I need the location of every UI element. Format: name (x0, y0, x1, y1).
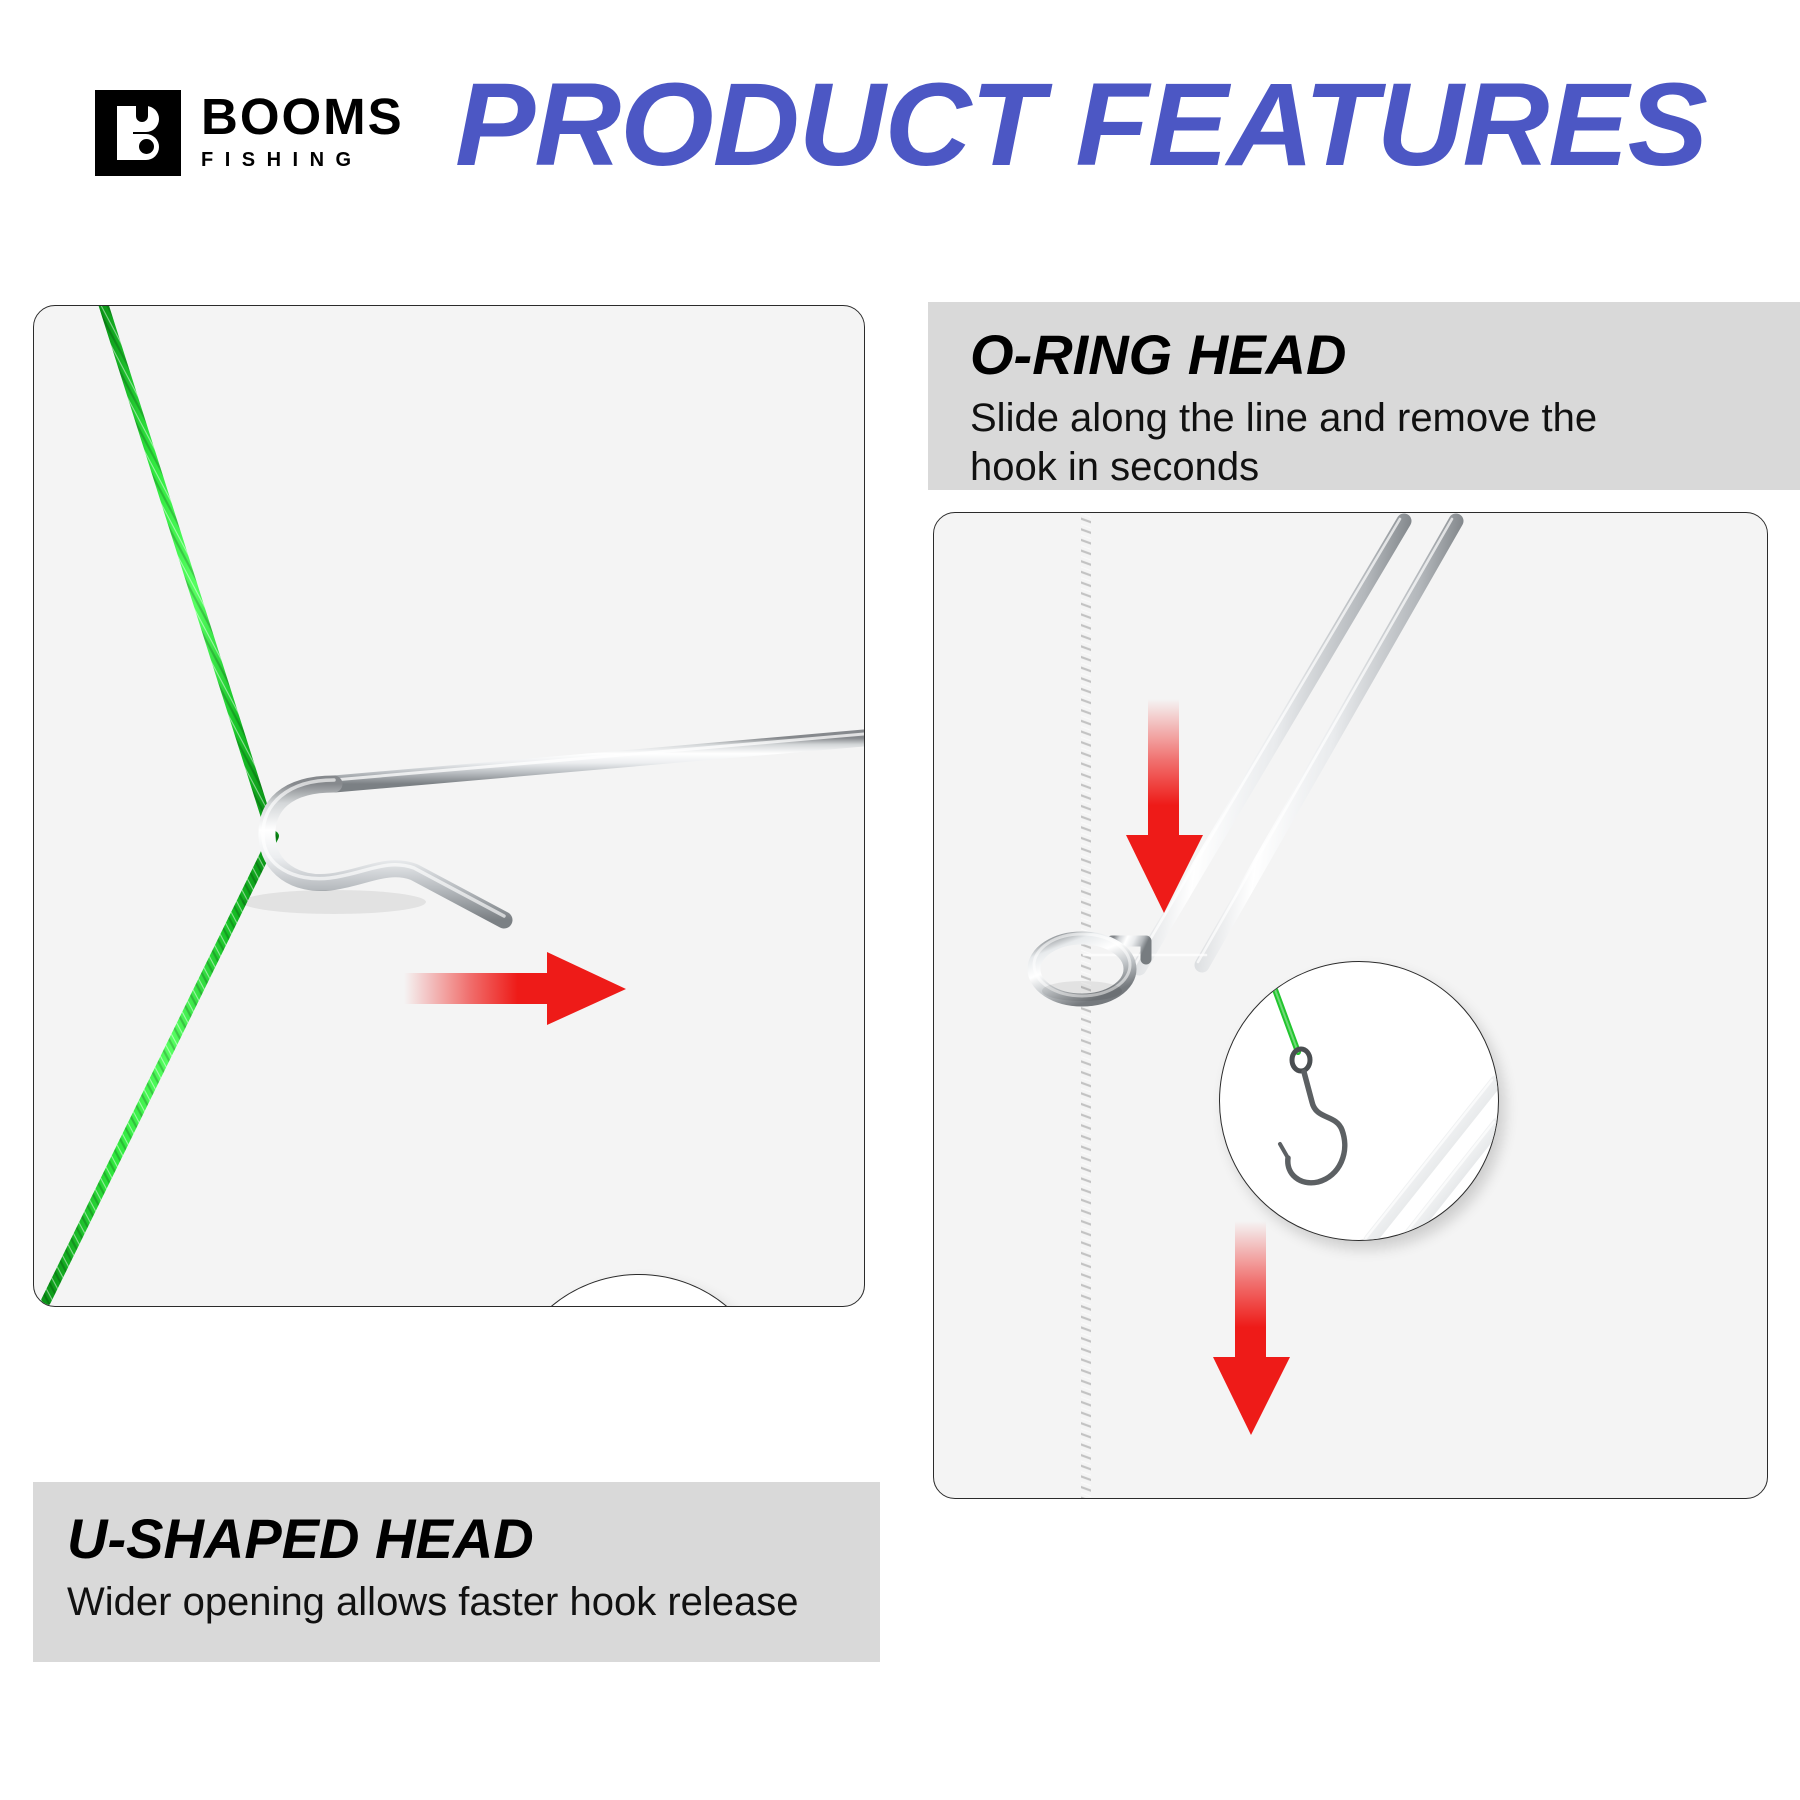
u-shaped-head-title: U-SHAPED HEAD (67, 1508, 880, 1570)
page-header: BOOMS FISHING PRODUCT FEATURES (0, 0, 1800, 250)
o-ring-head-description: Slide along the line and remove the hook… (970, 394, 1650, 492)
hook-on-line-closeup (1219, 961, 1499, 1241)
u-shaped-tool (34, 306, 864, 1306)
page-title: PRODUCT FEATURES (455, 60, 1800, 190)
arrow-right-icon (404, 946, 634, 1032)
o-ring-head-illustration (933, 512, 1768, 1499)
arrow-down-icon (1119, 699, 1211, 921)
u-shaped-head-label: U-SHAPED HEAD Wider opening allows faste… (33, 1482, 880, 1662)
u-head-hook-closeup (502, 1274, 776, 1307)
u-shaped-head-description: Wider opening allows faster hook release (67, 1578, 857, 1627)
o-ring-head-label: O-RING HEAD Slide along the line and rem… (928, 302, 1800, 490)
brand-wordmark: BOOMS (201, 92, 404, 142)
booms-b-mark-icon (95, 90, 181, 176)
brand-logo-text: BOOMS FISHING (201, 90, 404, 172)
brand-subword: FISHING (201, 149, 404, 172)
o-ring-head-title: O-RING HEAD (970, 324, 1800, 386)
brand-logo: BOOMS FISHING (95, 90, 404, 176)
arrow-down-icon (1206, 1221, 1298, 1443)
u-shaped-head-illustration (33, 305, 865, 1307)
